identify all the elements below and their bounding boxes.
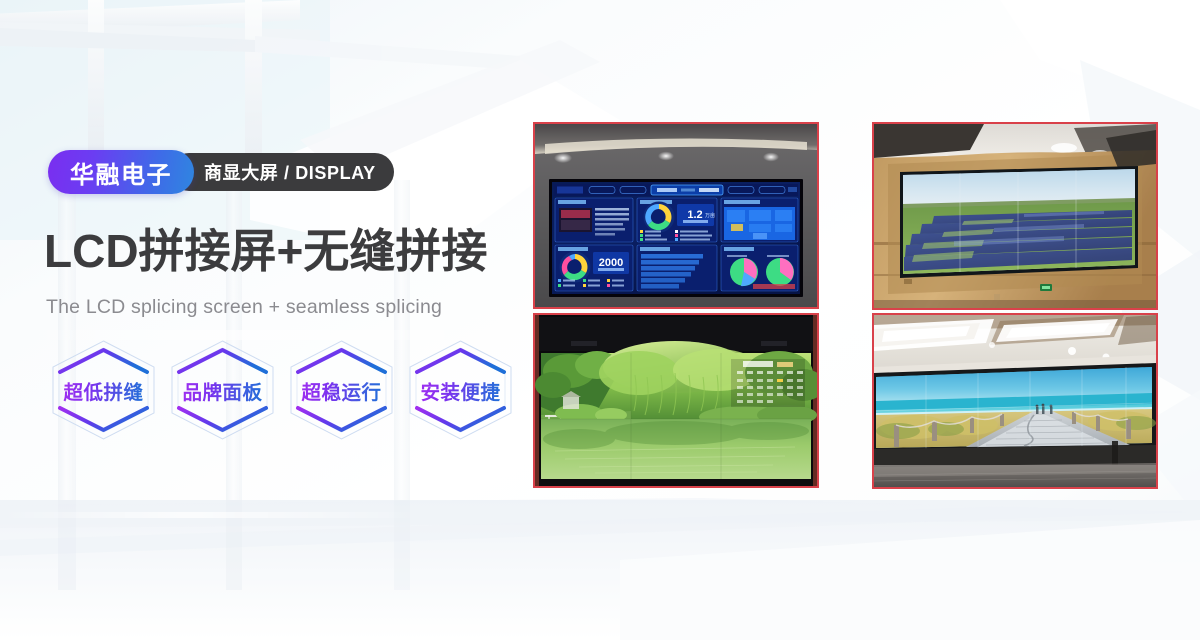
photo-lake-image xyxy=(535,315,817,486)
photo-lake-scenery-video-wall[interactable] xyxy=(533,313,819,488)
feature-badge-label: 安装便捷 xyxy=(420,376,500,405)
photo-dashboard-image: 1.2 万亩 xyxy=(535,124,817,307)
photo-solar-farm-video-wall[interactable] xyxy=(872,122,1158,310)
page-subtitle: The LCD splicing screen + seamless splic… xyxy=(46,296,442,319)
feature-badge-1: 品牌面板 xyxy=(163,336,282,444)
category-badge: 商显大屏 / DISPLAY xyxy=(170,153,394,191)
feature-badge-0: 超低拼缝 xyxy=(44,336,163,444)
feature-badge-label: 超稳运行 xyxy=(301,376,381,405)
photo-dashboard-video-wall[interactable]: 1.2 万亩 xyxy=(533,122,819,309)
feature-badge-label: 超低拼缝 xyxy=(63,376,143,405)
photo-solar-image xyxy=(874,124,1156,308)
brand-name-badge: 华融电子 xyxy=(48,150,194,194)
photo-beach-image xyxy=(874,315,1156,487)
feature-badge-row: 超低拼缝 品牌面板 xyxy=(44,336,520,444)
svg-text:2000: 2000 xyxy=(599,257,623,269)
svg-text:1.2: 1.2 xyxy=(687,209,702,221)
svg-text:万亩: 万亩 xyxy=(705,212,715,219)
feature-badge-3: 安装便捷 xyxy=(401,336,520,444)
page-title: LCD拼接屏+无缝拼接 xyxy=(44,228,487,274)
feature-badge-2: 超稳运行 xyxy=(282,336,401,444)
photo-beach-boardwalk-video-wall[interactable] xyxy=(872,313,1158,489)
lcd-splicing-screen-banner: 华融电子 商显大屏 / DISPLAY LCD拼接屏+无缝拼接 The LCD … xyxy=(0,0,1200,640)
brand-badge-row: 华融电子 商显大屏 / DISPLAY xyxy=(48,150,394,194)
feature-badge-label: 品牌面板 xyxy=(182,376,262,405)
